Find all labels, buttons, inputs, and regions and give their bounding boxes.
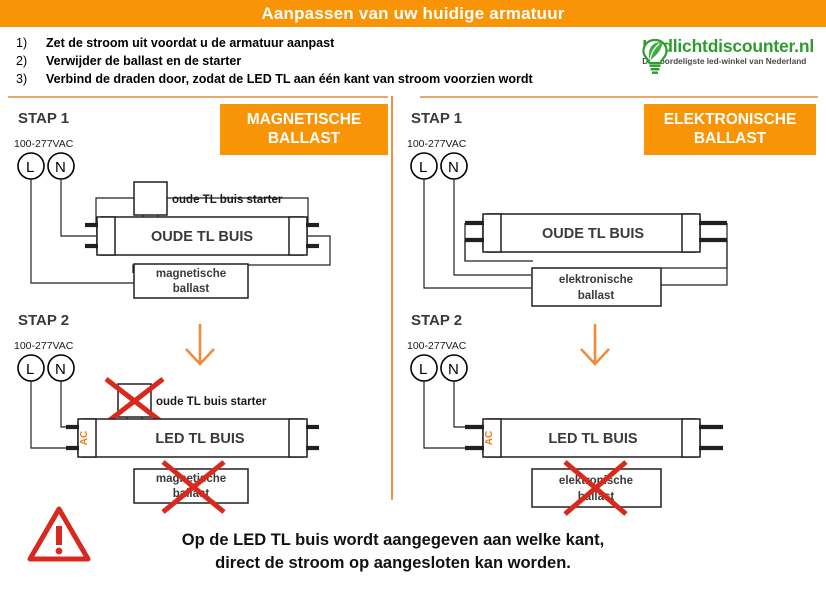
instructions-area: 1) Zet de stroom uit voordat u de armatu… <box>0 27 826 91</box>
starter-label: oude TL buis starter <box>156 396 267 408</box>
list-item-label: Verwijder de ballast en de starter <box>46 52 241 70</box>
tube-endcap-right <box>682 214 700 252</box>
ballast-label-1: elektronische <box>559 274 633 286</box>
voltage-label: 100-277VAC <box>407 138 467 150</box>
tube-label: OUDE TL BUIS <box>542 226 644 242</box>
brand-logo: Ledlichtdiscounter.nl De voordeligste le… <box>640 37 814 67</box>
list-item: 3) Verbind de draden door, zodat de LED … <box>16 70 533 88</box>
ac-side-marker: AC <box>79 431 90 445</box>
ballast-label-1: magnetische <box>156 268 226 280</box>
warning-triangle-icon <box>28 506 90 562</box>
title-bar: Aanpassen van uw huidige armatuur <box>0 0 826 27</box>
schematic-electronic-step1: 100-277VAC L N <box>393 120 826 320</box>
schematic-electronic-step2: 100-277VAC L N AC LED TL BUIS e <box>393 322 826 522</box>
diagram-panels: MAGNETISCHE BALLAST STAP 1 STAP 2 100-27… <box>0 91 826 506</box>
terminal-live-label: L <box>419 159 427 176</box>
infographic-page: Aanpassen van uw huidige armatuur 1) Zet… <box>0 0 826 598</box>
footer-warning-text: Op de LED TL buis wordt aangegeven aan w… <box>0 529 826 575</box>
wire-live <box>31 381 84 448</box>
panel-magnetic-ballast: MAGNETISCHE BALLAST STAP 1 STAP 2 100-27… <box>0 96 391 506</box>
starter-label: oude TL buis starter <box>172 194 283 206</box>
voltage-label: 100-277VAC <box>14 138 74 150</box>
starter-box <box>134 182 167 215</box>
terminal-live-label: L <box>419 361 427 378</box>
list-item: 1) Zet de stroom uit voordat u de armatu… <box>16 34 533 52</box>
list-item-label: Verbind de draden door, zodat de LED TL … <box>46 70 533 88</box>
tube-endcap-left <box>483 214 501 252</box>
terminal-live-label: L <box>26 159 34 176</box>
terminal-neutral-label: N <box>448 159 459 176</box>
wire-live <box>424 381 477 448</box>
tube-endcap-right <box>289 217 307 255</box>
lightbulb-leaf-icon <box>640 37 670 75</box>
footer-line-2: direct de stroom op aangesloten kan word… <box>0 552 786 575</box>
ballast-label-2: ballast <box>578 290 615 302</box>
footer-line-1: Op de LED TL buis wordt aangegeven aan w… <box>0 529 786 552</box>
list-item: 2) Verwijder de ballast en de starter <box>16 52 533 70</box>
tube-label: OUDE TL BUIS <box>151 229 253 245</box>
ac-side-marker: AC <box>484 431 495 445</box>
terminal-neutral-label: N <box>448 361 459 378</box>
wire-neutral <box>61 179 96 236</box>
page-title: Aanpassen van uw huidige armatuur <box>261 4 564 24</box>
voltage-label: 100-277VAC <box>14 340 74 352</box>
schematic-magnetic-step2: 100-277VAC L N oude TL buis starter <box>0 322 391 522</box>
tube-endcap-left <box>97 217 115 255</box>
terminal-neutral-label: N <box>55 159 66 176</box>
list-item-number: 2) <box>16 52 46 70</box>
tube-endcap-right <box>289 419 307 457</box>
list-item-number: 1) <box>16 34 46 52</box>
list-item-label: Zet de stroom uit voordat u de armatuur … <box>46 34 334 52</box>
terminal-live-label: L <box>26 361 34 378</box>
tube-endcap-right <box>682 419 700 457</box>
ballast-label-2: ballast <box>173 283 210 295</box>
voltage-label: 100-277VAC <box>407 340 467 352</box>
schematic-magnetic-step1: 100-277VAC L N oude TL buis starter <box>0 120 391 320</box>
panel-electronic-ballast: ELEKTRONISCHE BALLAST STAP 1 STAP 2 100-… <box>393 96 826 506</box>
tube-label: LED TL BUIS <box>155 431 244 447</box>
footer-warning: Op de LED TL buis wordt aangegeven aan w… <box>0 506 826 598</box>
instruction-list: 1) Zet de stroom uit voordat u de armatu… <box>16 34 533 88</box>
tube-label: LED TL BUIS <box>548 431 637 447</box>
list-item-number: 3) <box>16 70 46 88</box>
wire-neutral <box>454 381 477 427</box>
terminal-neutral-label: N <box>55 361 66 378</box>
